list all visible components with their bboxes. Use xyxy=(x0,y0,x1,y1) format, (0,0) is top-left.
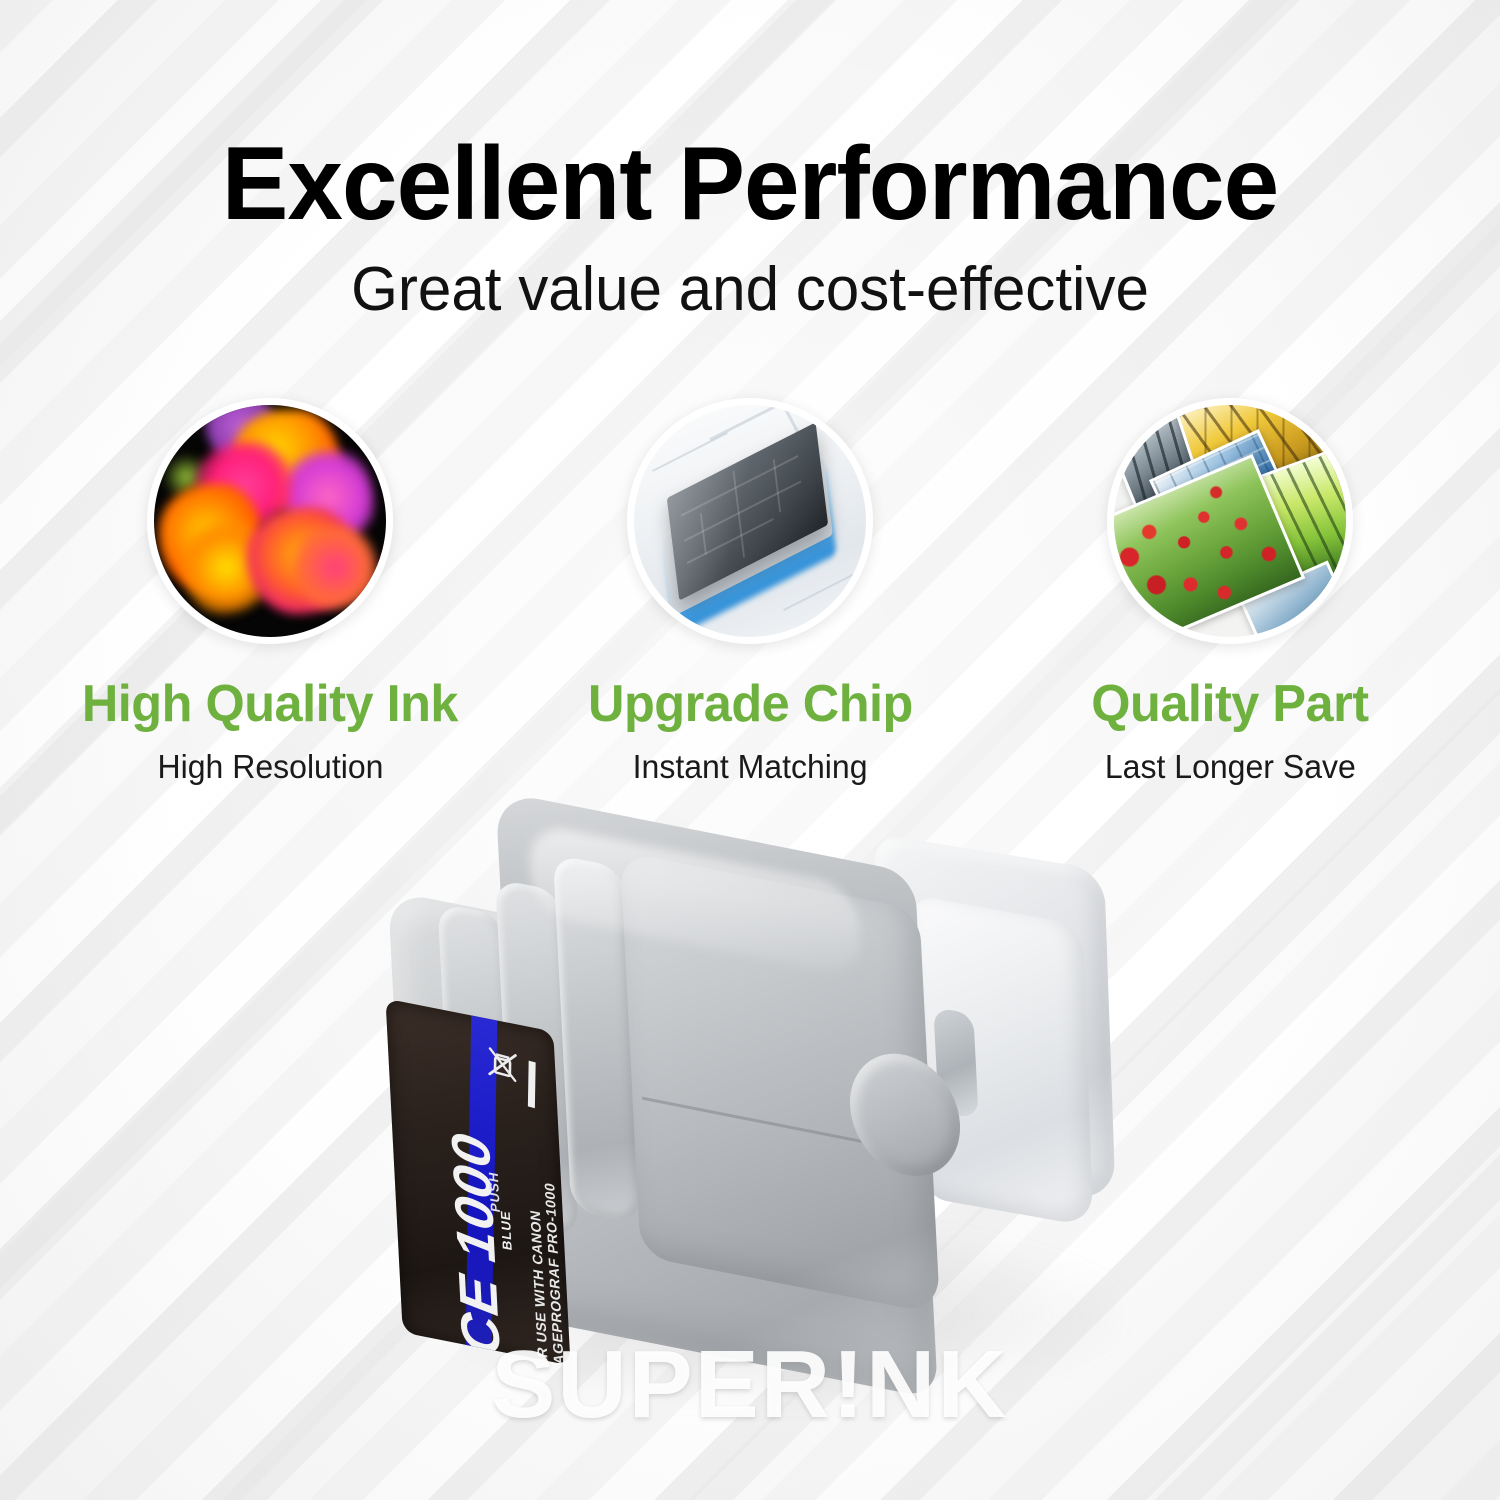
feature-list: High Quality Ink High Resolution xyxy=(60,398,1440,786)
chip-icon xyxy=(634,405,866,637)
feature-subtitle: High Resolution xyxy=(157,748,383,786)
cartridge-label: CE 1000 PUSH BLUE FOR USE WITH CANON IMA… xyxy=(385,999,570,1366)
feature-image-frame xyxy=(627,398,873,644)
feature-image-frame xyxy=(1107,398,1353,644)
feature-image-frame xyxy=(147,398,393,644)
feature-title: Quality Part xyxy=(1091,674,1368,734)
page-title: Excellent Performance xyxy=(30,130,1470,238)
feature-item-quality-part: Quality Part Last Longer Save xyxy=(1020,398,1440,786)
poster-header: Excellent Performance Great value and co… xyxy=(0,0,1500,324)
ink-cartridge: CE 1000 PUSH BLUE FOR USE WITH CANON IMA… xyxy=(380,825,1180,1465)
product-feature-poster: Excellent Performance Great value and co… xyxy=(0,0,1500,1500)
feature-subtitle: Instant Matching xyxy=(633,748,868,786)
ink-splash-icon xyxy=(154,405,386,637)
photo-prints-icon xyxy=(1114,405,1346,637)
feature-subtitle: Last Longer Save xyxy=(1105,748,1356,786)
feature-title: Upgrade Chip xyxy=(588,674,913,734)
feature-item-high-quality-ink: High Quality Ink High Resolution xyxy=(60,398,480,786)
page-subtitle: Great value and cost-effective xyxy=(23,256,1478,324)
feature-item-upgrade-chip: Upgrade Chip Instant Matching xyxy=(540,398,960,786)
feature-title: High Quality Ink xyxy=(82,674,458,734)
